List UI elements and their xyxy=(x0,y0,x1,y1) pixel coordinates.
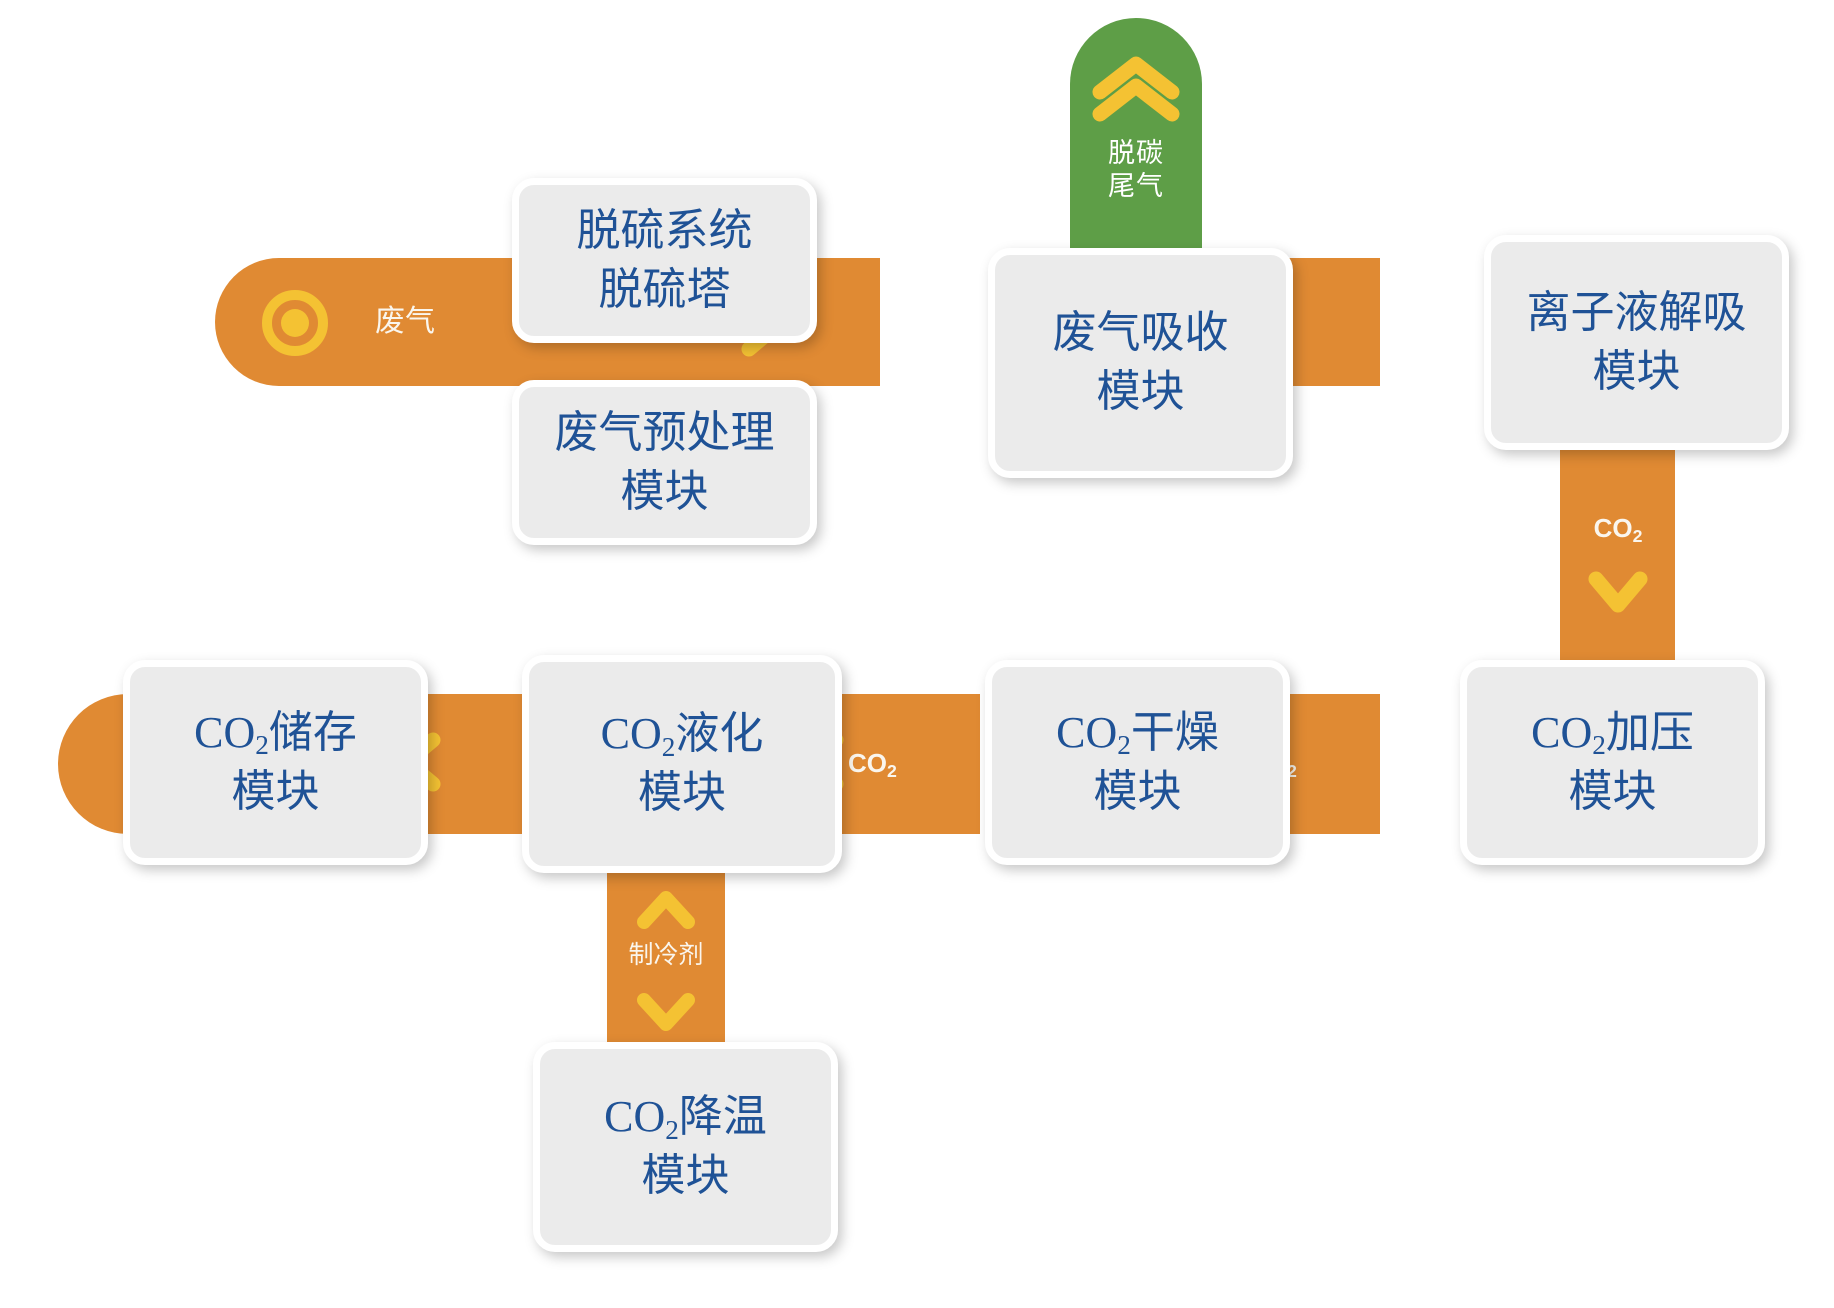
module-co2-liquefaction-line2: 模块 xyxy=(601,764,764,823)
module-absorption-line2: 模块 xyxy=(1053,363,1229,422)
module-co2-drying[interactable]: CO2干燥 模块 xyxy=(985,660,1290,865)
module-desulfurization[interactable]: 脱硫系统 脱硫塔 xyxy=(512,178,817,343)
module-co2-liquefaction-line1: CO2液化 xyxy=(601,705,764,764)
module-pretreatment-line1: 废气预处理 xyxy=(555,404,775,463)
tailgas-outlet[interactable]: 脱碳 尾气 xyxy=(1070,18,1202,250)
double-chevron-up-icon xyxy=(1090,52,1182,127)
module-pretreatment-line2: 模块 xyxy=(555,463,775,522)
module-desulfurization-line1: 脱硫系统 xyxy=(577,202,753,261)
chevron-down-icon-1 xyxy=(1586,565,1650,619)
module-co2-cooling[interactable]: CO2降温 模块 xyxy=(533,1042,838,1252)
module-pretreatment[interactable]: 废气预处理 模块 xyxy=(512,380,817,545)
module-co2-pressurize-line1: CO2加压 xyxy=(1531,704,1694,763)
connector-label-co2-down: CO2 xyxy=(1562,513,1674,544)
module-co2-liquefaction[interactable]: CO2液化 模块 xyxy=(522,655,842,873)
module-co2-storage[interactable]: CO2储存 模块 xyxy=(123,660,428,865)
connector-label-co2-2: CO2 xyxy=(848,748,938,779)
module-desulfurization-line2: 脱硫塔 xyxy=(577,261,753,320)
module-ionic-liquid-desorption[interactable]: 离子液解吸 模块 xyxy=(1484,235,1789,450)
module-co2-cooling-line2: 模块 xyxy=(604,1147,767,1206)
target-ring-core-icon xyxy=(281,309,309,337)
module-co2-pressurization[interactable]: CO2加压 模块 xyxy=(1460,660,1765,865)
module-waste-gas-absorption[interactable]: 废气吸收 模块 xyxy=(988,248,1293,478)
module-co2-cooling-line1: CO2降温 xyxy=(604,1088,767,1147)
chevron-up-icon-refrigerant xyxy=(634,888,698,934)
module-co2-storage-line1: CO2储存 xyxy=(194,704,357,763)
module-co2-drying-line2: 模块 xyxy=(1056,763,1219,822)
start-label: 废气 xyxy=(360,304,450,340)
module-ionic-line2: 模块 xyxy=(1527,343,1747,402)
tailgas-label-line1: 脱碳 xyxy=(1108,137,1164,170)
chevron-down-icon-refrigerant xyxy=(634,988,698,1034)
module-absorption-line1: 废气吸收 xyxy=(1053,304,1229,363)
module-co2-pressurize-line2: 模块 xyxy=(1531,763,1694,822)
module-co2-drying-line1: CO2干燥 xyxy=(1056,704,1219,763)
tailgas-label-line2: 尾气 xyxy=(1108,170,1164,203)
module-co2-storage-line2: 模块 xyxy=(194,763,357,822)
module-ionic-line1: 离子液解吸 xyxy=(1527,284,1747,343)
connector-label-refrigerant: 制冷剂 xyxy=(605,940,727,970)
process-flow-diagram: 脱碳 尾气 废气 废气 海德威 脱碳剂 (富CO2) CO2 xyxy=(0,0,1834,1308)
